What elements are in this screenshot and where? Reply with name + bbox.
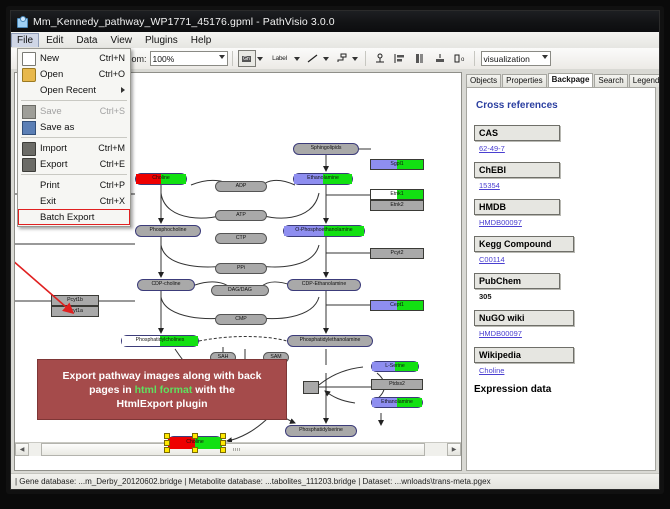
tab-search[interactable]: Search: [594, 74, 627, 87]
menu-item-save: Save Ctrl+S: [18, 103, 130, 119]
tab-objects[interactable]: Objects: [466, 74, 501, 87]
stack-button[interactable]: [411, 50, 429, 67]
distribute-button[interactable]: [431, 50, 449, 67]
menu-item-print[interactable]: Print Ctrl+P: [18, 177, 130, 193]
cross-references-title: Cross references: [476, 100, 648, 111]
interaction-icon: [336, 53, 348, 64]
menu-item-print-accel: Ctrl+P: [100, 180, 125, 190]
align-left-icon: [394, 53, 406, 64]
tab-properties[interactable]: Properties: [502, 74, 546, 87]
menu-item-export-label: Export: [40, 159, 67, 170]
line-dropdown-arrow-icon[interactable]: [323, 57, 329, 61]
side-panel-tabs: Objects Properties Backpage Search Legen…: [466, 72, 656, 87]
xref-header-cas: CAS: [474, 125, 560, 141]
xref-header-nugo-wiki: NuGO wiki: [474, 310, 574, 326]
menu-separator-3: [21, 174, 127, 175]
submenu-arrow-icon: [121, 87, 125, 93]
align-left-button[interactable]: [391, 50, 409, 67]
xref-value-pubchem: 305: [479, 292, 648, 301]
menu-item-exit-accel: Ctrl+X: [100, 196, 125, 206]
chevron-down-icon: [219, 55, 225, 59]
gene-dropdown-arrow-icon[interactable]: [257, 57, 263, 61]
group-button[interactable]: o: [451, 50, 469, 67]
xref-value-cas[interactable]: 62-49-7: [479, 144, 648, 153]
chevron-down-icon-2: [542, 55, 548, 59]
selection-handle[interactable]: [164, 440, 170, 446]
xref-value-nugo-wiki[interactable]: HMDB00097: [479, 329, 648, 338]
line-icon: [307, 53, 319, 64]
svg-text:o: o: [461, 57, 465, 63]
expression-data-heading: Expression data: [474, 384, 648, 395]
line-tool-button[interactable]: [304, 50, 322, 67]
menu-item-print-label: Print: [40, 180, 60, 191]
status-bar: | Gene database: ...m_Derby_20120602.bri…: [11, 473, 660, 489]
open-folder-icon: [22, 68, 36, 82]
anchor-icon: [374, 53, 386, 65]
xref-value-hmdb[interactable]: HMDB00097: [479, 218, 648, 227]
selection-handle[interactable]: [192, 447, 198, 453]
stack-icon: [414, 53, 426, 64]
menu-plugins[interactable]: Plugins: [139, 33, 184, 48]
pathvisio-window: Mm_Kennedy_pathway_WP1771_45176.gpml - P…: [10, 10, 660, 490]
xref-value-chebi[interactable]: 15354: [479, 181, 648, 190]
menu-item-open-accel: Ctrl+O: [99, 69, 125, 79]
distribute-icon: [434, 53, 446, 64]
label-button-text: Label: [272, 55, 287, 62]
menu-item-import[interactable]: Import Ctrl+M: [18, 140, 130, 156]
menu-item-new[interactable]: New Ctrl+N: [18, 50, 130, 66]
side-panel: Objects Properties Backpage Search Legen…: [466, 72, 656, 471]
menu-item-open[interactable]: Open Ctrl+O: [18, 66, 130, 82]
new-document-icon: [22, 52, 36, 66]
anchor-tool-button[interactable]: [371, 50, 389, 67]
menu-item-open-recent[interactable]: Open Recent: [18, 82, 130, 98]
xref-value-wikipedia[interactable]: Choline: [479, 366, 648, 375]
xref-header-chebi: ChEBI: [474, 162, 560, 178]
import-icon: [22, 142, 36, 156]
visualization-combo[interactable]: visualization: [481, 51, 551, 66]
menu-item-open-label: Open: [40, 69, 63, 80]
xref-header-wikipedia: Wikipedia: [474, 347, 574, 363]
tab-legend[interactable]: Legend: [629, 74, 660, 87]
zoom-value: 100%: [153, 54, 175, 64]
selection-handle[interactable]: [220, 433, 226, 439]
menu-item-save-as[interactable]: Save as: [18, 119, 130, 135]
menu-item-new-accel: Ctrl+N: [99, 53, 125, 63]
save-icon: [22, 105, 36, 119]
menu-bar: File Edit Data View Plugins Help: [11, 32, 659, 49]
label-button[interactable]: Label: [267, 50, 293, 67]
menu-data[interactable]: Data: [70, 33, 103, 48]
interaction-dropdown-arrow-icon[interactable]: [352, 57, 358, 61]
status-text: | Gene database: ...m_Derby_20120602.bri…: [15, 477, 491, 486]
menu-view[interactable]: View: [104, 33, 138, 48]
menu-item-save-accel: Ctrl+S: [100, 106, 125, 116]
selection-handle[interactable]: [192, 433, 198, 439]
menu-help[interactable]: Help: [185, 33, 218, 48]
desktop-background: Mm_Kennedy_pathway_WP1771_45176.gpml - P…: [0, 0, 670, 509]
xref-header-pubchem: PubChem: [474, 273, 560, 289]
selection-handle[interactable]: [164, 433, 170, 439]
xref-header-hmdb: HMDB: [474, 199, 560, 215]
menu-separator-1: [21, 100, 127, 101]
tab-backpage[interactable]: Backpage: [548, 73, 594, 87]
file-menu-dropdown[interactable]: New Ctrl+N Open Ctrl+O Open Recent Save …: [17, 48, 131, 227]
gene-icon: Gn: [242, 56, 251, 62]
menu-item-save-as-label: Save as: [40, 122, 74, 133]
title-bar: Mm_Kennedy_pathway_WP1771_45176.gpml - P…: [11, 11, 660, 32]
visualization-value: visualization: [484, 54, 530, 64]
selection-handle[interactable]: [164, 447, 170, 453]
menu-item-open-recent-label: Open Recent: [40, 85, 96, 96]
window-title: Mm_Kennedy_pathway_WP1771_45176.gpml - P…: [33, 16, 335, 28]
menu-item-exit[interactable]: Exit Ctrl+X: [18, 193, 130, 209]
save-as-icon: [22, 121, 36, 135]
menu-item-export-accel: Ctrl+E: [100, 159, 125, 169]
menu-item-save-label: Save: [40, 106, 62, 117]
toolbar-separator: [232, 51, 233, 66]
cross-reference-list: CAS62-49-7ChEBI15354HMDBHMDB00097Kegg Co…: [474, 125, 648, 375]
pathvisio-icon: [16, 16, 28, 28]
menu-item-new-label: New: [40, 53, 59, 64]
xref-header-kegg-compound: Kegg Compound: [474, 236, 574, 252]
menu-item-batch-export-label: Batch Export: [40, 212, 94, 223]
menu-item-import-label: Import: [40, 143, 67, 154]
group-icon: o: [454, 53, 466, 64]
menu-item-export[interactable]: Export Ctrl+E: [18, 156, 130, 172]
selection-handle[interactable]: [220, 447, 226, 453]
menu-separator-2: [21, 137, 127, 138]
selection-handle[interactable]: [220, 440, 226, 446]
zoom-combo[interactable]: 100%: [150, 51, 228, 66]
menu-edit[interactable]: Edit: [40, 33, 69, 48]
xref-value-kegg-compound[interactable]: C00114: [479, 255, 648, 264]
menu-file[interactable]: File: [11, 33, 39, 47]
toolbar-separator-2: [365, 51, 366, 66]
label-dropdown-arrow-icon[interactable]: [294, 57, 300, 61]
interaction-tool-button[interactable]: [333, 50, 351, 67]
toolbar-separator-3: [474, 51, 475, 66]
menu-item-batch-export[interactable]: Batch Export: [18, 209, 130, 225]
gene-shape-button[interactable]: Gn: [238, 50, 256, 67]
menu-item-exit-label: Exit: [40, 196, 56, 207]
menu-item-import-accel: Ctrl+M: [98, 143, 125, 153]
export-icon: [22, 158, 36, 172]
backpage-content: Cross references CAS62-49-7ChEBI15354HMD…: [466, 87, 656, 471]
